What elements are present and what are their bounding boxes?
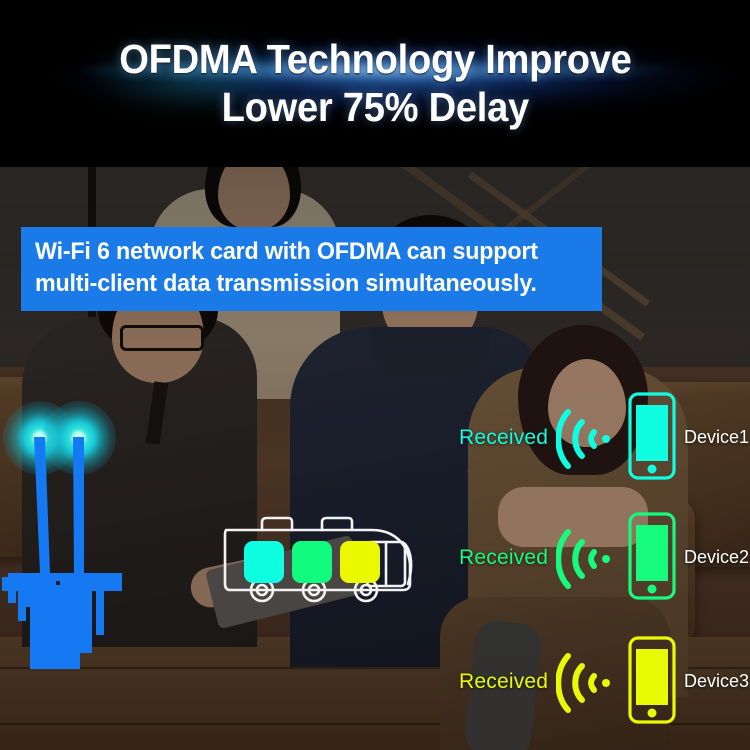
callout-line-1: Wi-Fi 6 network card with OFDMA can supp…	[35, 236, 571, 268]
wifi-signal-icon	[556, 406, 612, 472]
bus-icon	[222, 508, 422, 613]
callout-box: Wi-Fi 6 network card with OFDMA can supp…	[21, 227, 602, 311]
device-3-name-label: Device3	[684, 671, 749, 692]
device-1-received-label: Received	[459, 426, 548, 450]
callout-line-2: multi-client data transmission simultane…	[35, 268, 571, 300]
smartphone-icon	[628, 636, 676, 724]
promo-banner-image: OFDMA Technology Improve Lower 75% Delay	[0, 0, 750, 750]
bus-shape	[222, 508, 422, 608]
header-text-group: OFDMA Technology Improve Lower 75% Delay	[0, 0, 750, 167]
cargo-block-2	[292, 541, 332, 583]
router-body-shape	[0, 395, 130, 675]
device-1-wifi-signal-icon	[556, 406, 612, 477]
wifi-router-icon	[0, 395, 130, 675]
cargo-block-1	[244, 541, 284, 583]
device-2-name-label: Device2	[684, 547, 749, 568]
device-1-smartphone-icon	[628, 392, 676, 485]
header-title-line2: Lower 75% Delay	[221, 85, 528, 131]
header-banner: OFDMA Technology Improve Lower 75% Delay	[0, 0, 750, 167]
device-3-wifi-signal-icon	[556, 650, 612, 721]
device-3-received-label: Received	[459, 670, 548, 694]
smartphone-icon	[628, 392, 676, 480]
cargo-block-3	[340, 541, 380, 583]
device-2-received-label: Received	[459, 546, 548, 570]
wifi-signal-icon	[556, 526, 612, 592]
wifi-signal-icon	[556, 650, 612, 716]
smartphone-icon	[628, 512, 676, 600]
header-title-line1: OFDMA Technology Improve	[119, 37, 631, 83]
device-1-name-label: Device1	[684, 427, 749, 448]
device-2-smartphone-icon	[628, 512, 676, 605]
device-2-wifi-signal-icon	[556, 526, 612, 597]
device-3-smartphone-icon	[628, 636, 676, 729]
